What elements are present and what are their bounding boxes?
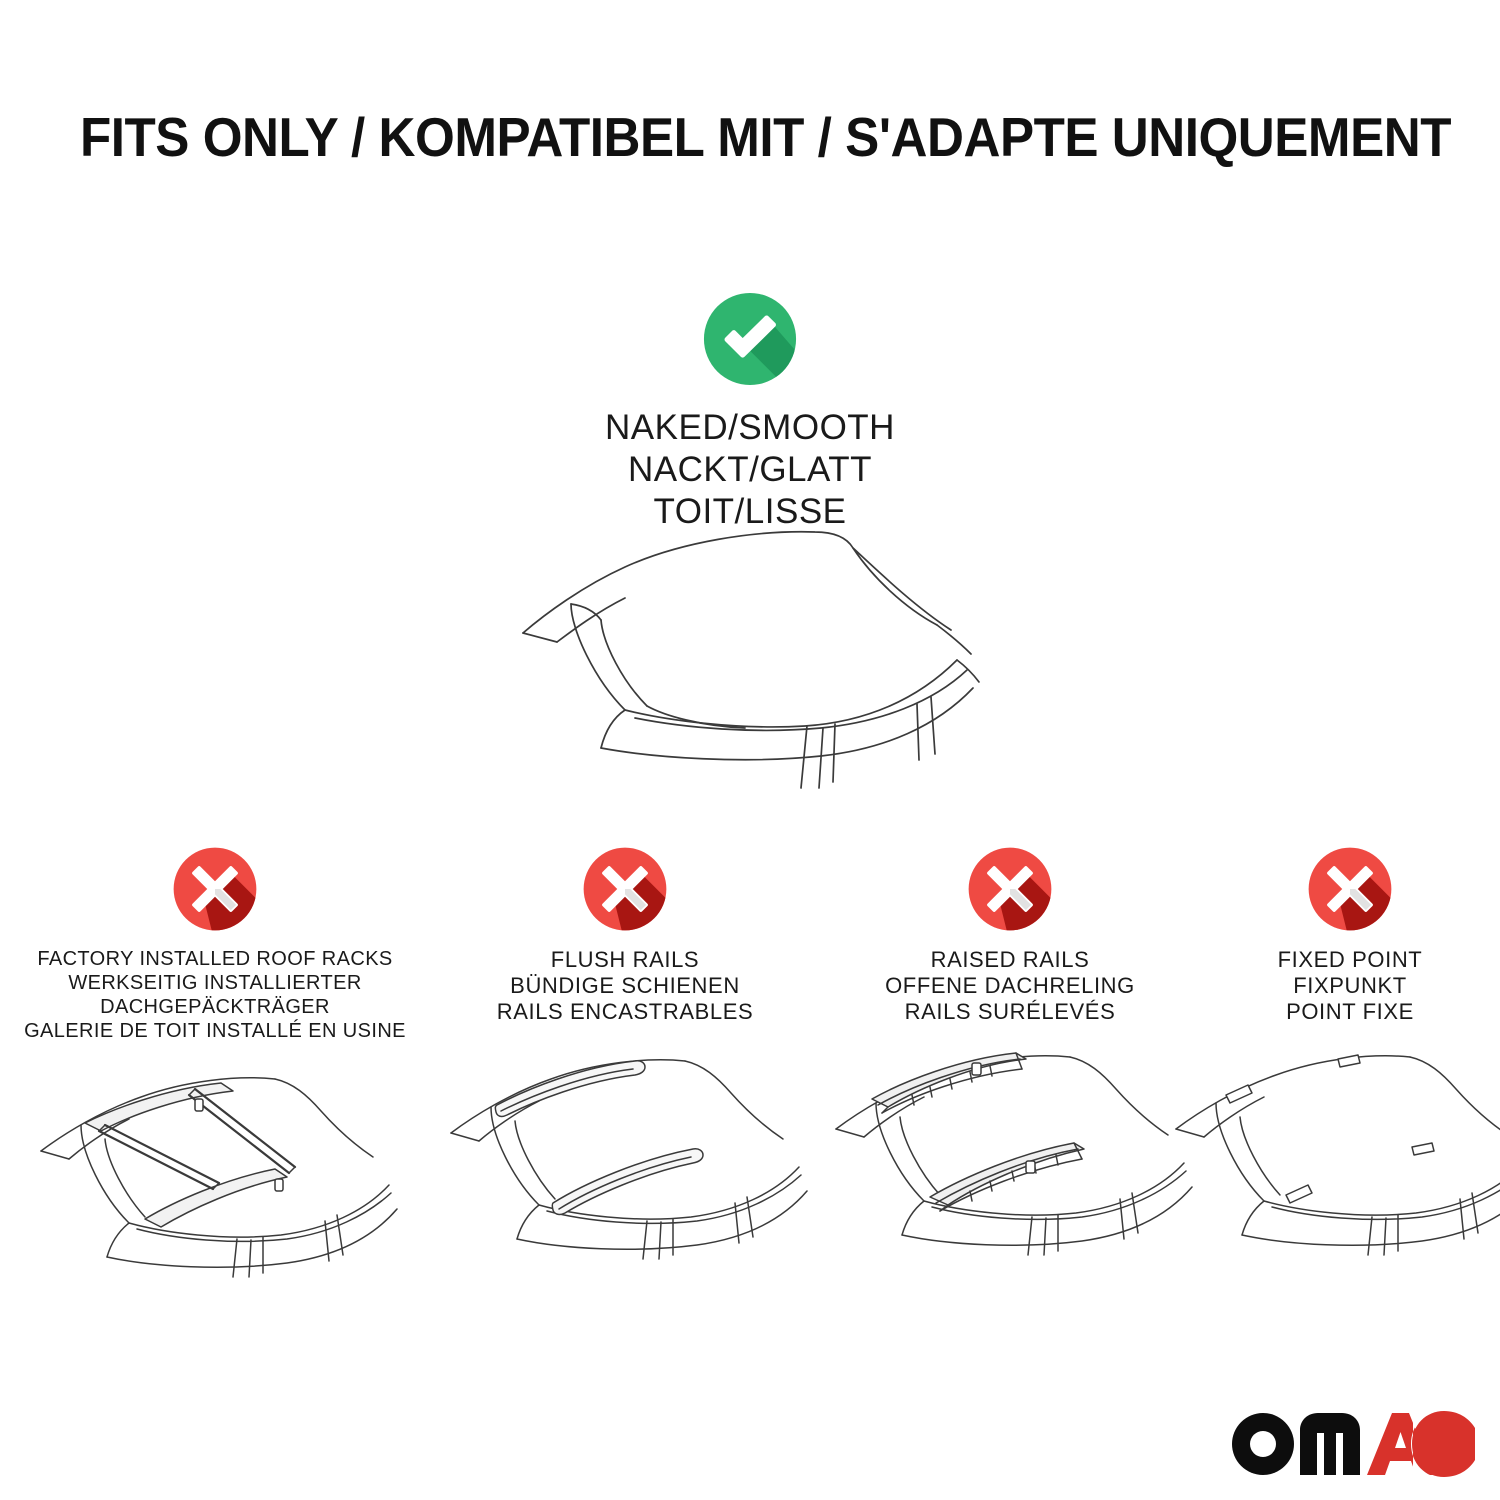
incompatible-label-en: FLUSH RAILS <box>497 947 754 973</box>
incompatible-labels: FLUSH RAILS BÜNDIGE SCHIENEN RAILS ENCAS… <box>497 947 754 1025</box>
incompatible-label-en: FIXED POINT <box>1278 947 1423 973</box>
incompatible-label-en: RAISED RAILS <box>885 947 1135 973</box>
x-circle-icon <box>171 845 259 933</box>
incompatible-item-fixed-point: FIXED POINT FIXPUNKT POINT FIXE <box>1200 845 1500 1263</box>
incompatible-item-raised-rails: RAISED RAILS OFFENE DACHRELING RAILS SUR… <box>820 845 1200 1263</box>
incompatible-label-en: FACTORY INSTALLED ROOF RACKS <box>24 947 406 971</box>
compatible-section: NAKED/SMOOTH NACKT/GLATT TOIT/LISSE <box>0 290 1500 533</box>
omac-logo <box>1230 1408 1475 1480</box>
compatible-label-de: NACKT/GLATT <box>0 449 1500 491</box>
incompatible-label-de-2: DACHGEPÄCKTRÄGER <box>24 995 406 1019</box>
incompatible-labels: RAISED RAILS OFFENE DACHRELING RAILS SUR… <box>885 947 1135 1025</box>
incompatible-label-de-1: WERKSEITIG INSTALLIERTER <box>24 971 406 995</box>
incompatible-section: FACTORY INSTALLED ROOF RACKS WERKSEITIG … <box>0 845 1500 1281</box>
x-circle-icon <box>966 845 1054 933</box>
compatible-label-en: NAKED/SMOOTH <box>0 407 1500 449</box>
incompatible-label-fr: GALERIE DE TOIT INSTALLÉ EN USINE <box>24 1019 406 1043</box>
incompatible-label-fr: POINT FIXE <box>1278 999 1423 1025</box>
incompatible-item-factory-installed-roof-racks: FACTORY INSTALLED ROOF RACKS WERKSEITIG … <box>0 845 430 1281</box>
car-roof-factory-rack-illustration <box>25 1061 405 1281</box>
car-roof-raised-rails-illustration <box>820 1043 1200 1263</box>
incompatible-item-flush-rails: FLUSH RAILS BÜNDIGE SCHIENEN RAILS ENCAS… <box>430 845 820 1263</box>
incompatible-label-de: BÜNDIGE SCHIENEN <box>497 973 754 999</box>
car-roof-naked-smooth-illustration <box>505 520 1025 800</box>
incompatible-labels: FIXED POINT FIXPUNKT POINT FIXE <box>1278 947 1423 1025</box>
incompatible-label-fr: RAILS SURÉLEVÉS <box>885 999 1135 1025</box>
incompatible-label-fr: RAILS ENCASTRABLES <box>497 999 754 1025</box>
incompatible-labels: FACTORY INSTALLED ROOF RACKS WERKSEITIG … <box>24 947 406 1043</box>
x-circle-icon <box>581 845 669 933</box>
incompatible-label-de: OFFENE DACHRELING <box>885 973 1135 999</box>
compatible-labels: NAKED/SMOOTH NACKT/GLATT TOIT/LISSE <box>0 407 1500 533</box>
page-title: FITS ONLY / KOMPATIBEL MIT / S'ADAPTE UN… <box>80 105 1451 169</box>
incompatible-label-de: FIXPUNKT <box>1278 973 1423 999</box>
check-circle-icon <box>701 290 799 388</box>
product-compatibility-infographic: FITS ONLY / KOMPATIBEL MIT / S'ADAPTE UN… <box>0 0 1500 1500</box>
x-circle-icon <box>1306 845 1394 933</box>
car-roof-flush-rails-illustration <box>435 1043 815 1263</box>
car-roof-fixed-point-illustration <box>1160 1043 1500 1263</box>
